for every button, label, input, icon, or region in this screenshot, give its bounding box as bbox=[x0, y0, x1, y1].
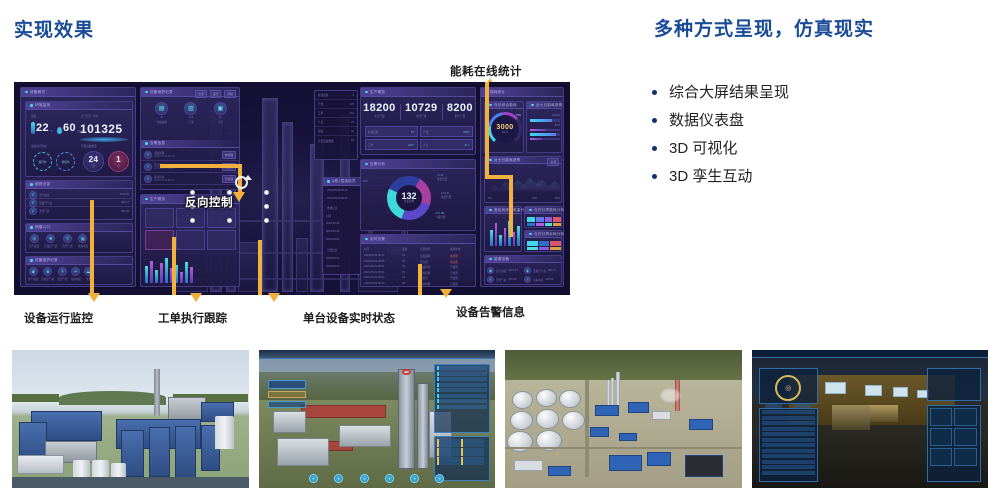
energy-device-label: 压缩空气表 bbox=[533, 269, 546, 273]
header-dot-icon bbox=[30, 259, 33, 262]
tag-label: 温度 bbox=[318, 129, 323, 133]
alarm-item-status[interactable]: 已处理 bbox=[222, 175, 236, 183]
slide-page: 实现效果 多种方式呈现，仿真现实 综合大屏结果呈现 数据仪表盘 3D 可视化 3… bbox=[0, 0, 1000, 498]
metric-value: 5台 bbox=[411, 130, 415, 134]
twin-side-panel-top[interactable] bbox=[434, 364, 491, 433]
record-label: 天然气表 bbox=[39, 209, 121, 213]
kpi-value: 18200 bbox=[363, 102, 396, 114]
wo-stat-item[interactable]: ▤ 5 在线设备 bbox=[155, 102, 168, 124]
cell-time: 2023-05-02 bbox=[326, 230, 339, 234]
metric-label: 在线设备 bbox=[368, 130, 378, 134]
bullet-dot-icon bbox=[652, 174, 657, 179]
connector-energy-v bbox=[485, 82, 489, 179]
panel-title: 设备维护记录 bbox=[150, 90, 173, 95]
panel-title: 近七日能耗趋势 bbox=[494, 158, 521, 163]
page-title-right: 多种方式呈现，仿真现实 bbox=[654, 14, 874, 41]
energy-gauge-chart: 3000 kW·h bbox=[488, 112, 522, 146]
list-item: 综合大屏结果呈现 bbox=[652, 78, 982, 106]
wo-stat-value: 5 bbox=[161, 116, 162, 119]
panel-header: 告警分析 bbox=[361, 160, 475, 169]
bullet-dot-icon bbox=[652, 146, 657, 151]
energy-device-value: 651.08 bbox=[508, 278, 516, 281]
tag-label: 人员 bbox=[318, 120, 323, 124]
tag-row[interactable]: 工单 213 bbox=[315, 109, 357, 118]
callout-label-workorder: 工单执行跟踪 bbox=[158, 310, 227, 326]
tag-row[interactable]: 在线设备 5 bbox=[315, 91, 357, 100]
panel-maintenance-records: 维修记录 ✓ 蒸汽总表 2371.23 ✓ 压缩空气表 982.17 ✓ 天 bbox=[25, 180, 133, 220]
divider bbox=[442, 104, 443, 120]
panel-energy-trend-chart: 近七日能耗趋势 全部 5% 10% 25% 60% bbox=[484, 156, 562, 203]
header-dot-icon bbox=[529, 233, 532, 236]
wo-stat-value: 213 bbox=[189, 116, 193, 119]
record-label: 蒸汽总表 bbox=[39, 193, 120, 197]
record-icon: ✓ bbox=[29, 207, 37, 215]
col-header-device: 设备 bbox=[402, 247, 420, 251]
wo-stat-item[interactable]: ▣ 21 人员 bbox=[214, 102, 227, 124]
metric-unit: 人 bbox=[467, 144, 470, 147]
panel-header: 设备概况 bbox=[21, 88, 135, 97]
twin-tag-label-2[interactable] bbox=[268, 391, 306, 398]
panel-energy-breakdown: 今日分项能耗分析 bbox=[524, 206, 562, 228]
wo-stat-item[interactable]: ▥ 213 工单 bbox=[184, 102, 197, 124]
header-dot-icon bbox=[365, 91, 368, 94]
metric-tile[interactable]: 产线 476次 bbox=[420, 126, 473, 137]
panel-header: 今日综合能耗 bbox=[485, 102, 523, 109]
xtick: 60% bbox=[555, 197, 560, 200]
list-item[interactable]: ! 振动异常 2023-05-02 08:57 已处理 bbox=[141, 173, 239, 185]
panel-header: 环境监测 bbox=[26, 102, 132, 110]
connector-alarm-v bbox=[418, 264, 422, 295]
nav-dot-icon[interactable] bbox=[410, 474, 419, 483]
trend-value: 5143.5 bbox=[552, 114, 560, 117]
hill-shape bbox=[59, 391, 165, 405]
panel-water-breakdown: 今日分项水耗分析 bbox=[524, 230, 562, 252]
thermometer-icon bbox=[31, 122, 35, 134]
steam-icon: ◉ bbox=[487, 267, 494, 274]
checklist-icon: ▣ bbox=[214, 102, 227, 115]
metric-label: 工单 bbox=[368, 143, 373, 147]
kpi-block: 10729 本月产量 bbox=[405, 102, 438, 118]
alarm-count-badge: 24 台 bbox=[83, 151, 104, 172]
gauge-value: 3000 bbox=[496, 124, 513, 131]
bullet-label: 3D 孪生互动 bbox=[669, 169, 752, 184]
energy-heat-row-2 bbox=[527, 223, 561, 226]
humidity-drop-icon bbox=[57, 127, 62, 134]
alarm-count-label: 告警设备数量 bbox=[81, 144, 97, 148]
tag-value: 24 bbox=[351, 139, 354, 142]
fault-count-unit: 台 bbox=[117, 164, 120, 168]
energy-device-item[interactable]: ◈ 压缩空气表 982.17 bbox=[524, 266, 561, 275]
filter-chip-run[interactable]: 运行 bbox=[210, 90, 222, 98]
panel-subheader: 告警信息 bbox=[141, 140, 239, 148]
list-item[interactable]: ✓ 蒸汽总表 2371.23 bbox=[26, 191, 132, 199]
pressure-value: 101325 bbox=[80, 122, 122, 136]
list-item: 3D 可视化 bbox=[652, 134, 982, 162]
tag-row[interactable]: 产线 476 bbox=[315, 100, 357, 109]
screenshot-indoor-warehouse-twin[interactable]: ◎ bbox=[752, 350, 989, 488]
status-gauge-running: 运行中 bbox=[33, 152, 52, 171]
energy-device-item[interactable]: ◑ 自来水表 413.56 bbox=[524, 275, 561, 284]
quick-entry-label: 自来水表 bbox=[78, 244, 88, 248]
device-entry-label: 自来水表 bbox=[71, 277, 81, 281]
metric-value: 21人 bbox=[465, 143, 470, 147]
quick-entry-label: 蒸汽总表 bbox=[29, 244, 39, 248]
panel-device-overview: 设备概况 环境监测 温度 大气压力（Pa） 22 ℃ 60 bbox=[20, 87, 136, 287]
tag-value: 213 bbox=[350, 112, 354, 115]
trend-bar-fill-3 bbox=[530, 133, 556, 136]
quick-entry-item[interactable]: ✹压缩空气表 bbox=[44, 234, 57, 248]
trend-bar-fill bbox=[530, 119, 552, 122]
fire-icon: ◈ bbox=[43, 267, 52, 276]
quick-entry-item[interactable]: ▽天然气表 bbox=[62, 234, 72, 248]
popup-section-2: 告警信息 bbox=[327, 248, 337, 252]
quick-entry-label: 天然气表 bbox=[62, 244, 72, 248]
device-tile[interactable] bbox=[145, 230, 174, 250]
record-value: 651.08 bbox=[121, 210, 129, 213]
legend-desc: 紧急告警 bbox=[437, 177, 447, 181]
metric-unit: 台 bbox=[412, 131, 415, 134]
humidity-value: 60 bbox=[63, 122, 76, 134]
alarm-count-unit: 台 bbox=[92, 164, 95, 168]
panel-title: 能耗统计 bbox=[490, 90, 505, 95]
panel-title: 设备维护记录 bbox=[35, 258, 58, 263]
filter-chip-stop[interactable]: 停机 bbox=[224, 90, 236, 98]
quick-entry-label: 压缩空气表 bbox=[44, 244, 57, 248]
panel-subtitle: 告警信息 bbox=[150, 141, 165, 146]
record-value: 982.17 bbox=[121, 201, 129, 204]
wrench-icon: ✂ bbox=[71, 267, 80, 276]
panel-energy-statistics: 能耗统计 今日综合能耗 3000 kW·h 75% bbox=[480, 87, 564, 287]
header-dot-icon bbox=[365, 238, 368, 241]
filter-chip-all[interactable]: 全部 bbox=[195, 90, 207, 98]
gauge-panel[interactable]: ◎ bbox=[759, 368, 818, 404]
col-header-status: 处理状态 bbox=[450, 247, 474, 251]
kpi-block: 18200 今日产量 bbox=[363, 102, 396, 118]
donut-center: 132 告警总数 bbox=[401, 192, 416, 204]
device-tile[interactable] bbox=[176, 230, 205, 250]
twin-tag-label[interactable] bbox=[268, 380, 306, 388]
header-dot-icon bbox=[529, 209, 532, 212]
trend-bar-fill-4 bbox=[530, 138, 542, 141]
bullet-label: 数据仪表盘 bbox=[669, 113, 744, 128]
kpi-label: 今日产量 bbox=[363, 114, 396, 118]
record-label: 压缩空气表 bbox=[39, 201, 121, 205]
gauge-icon: ◎ bbox=[30, 234, 39, 243]
bullet-dot-icon bbox=[652, 118, 657, 123]
connector-reverse-control-arrow-icon bbox=[233, 192, 245, 202]
panel-work-order: 设备维护记录 全部 运行 停机 ▤ 5 在线设备 ▥ 213 bbox=[140, 87, 240, 190]
kpi-value: 8200 bbox=[447, 102, 473, 114]
quick-entry-item[interactable]: ▦自来水表 bbox=[78, 234, 88, 248]
device-entry-item[interactable]: ⚡天然气表 bbox=[57, 267, 67, 281]
device-entry-item[interactable]: ◈压缩空气表 bbox=[41, 267, 54, 281]
header-dot-icon bbox=[365, 163, 368, 166]
panel-header: 今日分项能耗分析 bbox=[525, 207, 561, 214]
panel-title: 能源设备 bbox=[494, 257, 509, 262]
col-time: 时间 bbox=[326, 214, 331, 218]
tag-label: 在线设备 bbox=[318, 93, 328, 97]
tag-value: 476 bbox=[350, 103, 354, 106]
connector-energy-v2 bbox=[509, 175, 513, 237]
bullet-label: 3D 可视化 bbox=[669, 141, 737, 156]
cell-status: 已处理 bbox=[450, 282, 474, 288]
tag-label: 工单 bbox=[318, 111, 323, 115]
status-gauge-stopped: 停机中 bbox=[56, 152, 75, 171]
twin-bottom-nav[interactable] bbox=[301, 471, 452, 485]
device-tile[interactable] bbox=[145, 208, 174, 228]
selection-handle[interactable] bbox=[190, 218, 195, 223]
air-icon: ◈ bbox=[524, 267, 531, 274]
panel-header: 能源设备 bbox=[485, 256, 561, 263]
header-dot-icon bbox=[489, 209, 492, 212]
callout-energy-label: 能耗在线统计 bbox=[450, 63, 522, 79]
metric-unit: 个 bbox=[412, 144, 415, 147]
metric-label: 人员 bbox=[423, 143, 428, 147]
panel-header: 设备维护记录 bbox=[26, 257, 132, 265]
chart-legend-chip[interactable]: 全部 bbox=[547, 158, 559, 166]
legend-desc: 重要告警 bbox=[441, 195, 451, 199]
donut-center-label: 告警总数 bbox=[401, 201, 416, 204]
dashboard-screenshot: 设备概况 环境监测 温度 大气压力（Pa） 22 ℃ 60 bbox=[14, 82, 570, 295]
selection-handle[interactable] bbox=[264, 204, 269, 209]
device-tile[interactable] bbox=[207, 230, 236, 250]
bullet-label: 综合大屏结果呈现 bbox=[669, 85, 789, 100]
twin-topbar[interactable] bbox=[752, 350, 989, 358]
donut-legend-item: 10% 9 重要告警 bbox=[441, 192, 451, 199]
tree-line bbox=[12, 394, 59, 402]
callout-label-alarm-info: 设备告警信息 bbox=[456, 304, 525, 320]
screenshot-gallery: ◎ bbox=[12, 350, 988, 488]
gauge-percent: 75% bbox=[516, 114, 521, 117]
energy-device-item[interactable]: ◐ 天然气表 651.08 bbox=[487, 275, 524, 284]
status-gauge-running-label: 运行中 bbox=[39, 160, 47, 164]
bullet-dot-icon bbox=[652, 90, 657, 95]
wo-stat-label: 在线设备 bbox=[156, 120, 166, 124]
panel-interval-power: 各区间综合电量分析 bbox=[484, 206, 522, 252]
header-dot-icon bbox=[25, 91, 28, 94]
metric-unit: 次 bbox=[467, 131, 470, 134]
device-tile[interactable] bbox=[207, 208, 236, 228]
cell-time: 2023-05-02 bbox=[326, 238, 339, 242]
pallet-stack-2 bbox=[870, 405, 898, 422]
list-item[interactable]: ! 温度超限 2023-05-02 09:12 未处理 bbox=[141, 149, 239, 161]
device-entry-item[interactable]: ◉蒸汽总表 bbox=[28, 267, 38, 281]
connector-device-status-v1 bbox=[258, 240, 262, 295]
water-heat-row-2 bbox=[527, 247, 561, 250]
wo-stat-label: 工单 bbox=[188, 120, 193, 124]
panel-today-energy: 今日综合能耗 3000 kW·h 75% bbox=[484, 101, 524, 153]
panel-title: 今日综合能耗 bbox=[494, 103, 517, 108]
panel-model-tags: 在线设备 5 产线 476 工单 213 人员 21 温度 22 bbox=[314, 90, 358, 160]
header-dot-icon bbox=[145, 142, 148, 145]
chart-icon: ▦ bbox=[78, 234, 87, 243]
panel-title: 维修记录 bbox=[35, 182, 50, 187]
kpi-label: 累计产量 bbox=[447, 114, 473, 118]
panel-title: 今日分项能耗分析 bbox=[534, 208, 564, 213]
nav-dot-icon[interactable] bbox=[309, 474, 318, 483]
panel-alarm-analysis: 告警分析 132 告警总数 60% 5% 5 紧急告警 10% 9 bbox=[360, 159, 476, 231]
map-panel[interactable] bbox=[927, 368, 981, 401]
wo-stat-label: 人员 bbox=[218, 120, 223, 124]
screenshot-3d-plant-daytime[interactable] bbox=[12, 350, 249, 488]
trend-percent: 81% bbox=[555, 124, 560, 127]
device-entry-label: 压缩空气表 bbox=[41, 277, 54, 281]
metric-tile[interactable]: 工单 213个 bbox=[365, 139, 418, 150]
pressure-label: 大气压力（Pa） bbox=[81, 114, 100, 118]
twin-topbar[interactable] bbox=[259, 350, 496, 359]
col-header-type: 告警类型 bbox=[420, 247, 450, 251]
alert-icon: ! bbox=[144, 151, 152, 159]
feature-bullet-list: 综合大屏结果呈现 数据仪表盘 3D 可视化 3D 孪生互动 bbox=[652, 78, 982, 190]
device-mini-bar-chart bbox=[145, 255, 237, 283]
selection-handle[interactable] bbox=[264, 190, 269, 195]
list-item[interactable]: ✓ 压缩空气表 982.17 bbox=[26, 199, 132, 207]
list-item[interactable]: ✓ 天然气表 651.08 bbox=[26, 207, 132, 215]
gas-icon: ◐ bbox=[487, 276, 494, 283]
panel-energy-devices: 能源设备 ◉ 蒸汽总表 2371.23 ◈ 压缩空气表 982.17 bbox=[484, 255, 562, 285]
nav-dot-icon[interactable] bbox=[360, 474, 369, 483]
header-dot-icon bbox=[531, 104, 534, 107]
panel-production-overview: 生产概览 18200 今日产量 10729 本月产量 8200 累 bbox=[360, 87, 476, 155]
header-dot-icon bbox=[30, 104, 33, 107]
nav-dot-icon[interactable] bbox=[385, 474, 394, 483]
smokestack bbox=[154, 369, 160, 416]
gauge-unit: kW·h bbox=[496, 131, 513, 134]
camera-grid-panel[interactable] bbox=[927, 405, 981, 482]
bolt-icon: ⚡ bbox=[58, 267, 67, 276]
panel-header: 能耗统计 bbox=[481, 88, 563, 97]
device-entry-item[interactable]: ✂自来水表 bbox=[71, 267, 81, 281]
xtick: 25% bbox=[532, 197, 537, 200]
fault-count-badge: 1 台 bbox=[108, 151, 129, 172]
metric-tile[interactable]: 人员 21人 bbox=[420, 139, 473, 150]
cell-type: 通讯中断 bbox=[420, 282, 450, 288]
donut-legend-item: 25% 36 一般告警 bbox=[435, 212, 445, 219]
popup-meta-2: 2023-05-02 09:05 bbox=[327, 197, 347, 200]
connector-reverse-control-h bbox=[160, 164, 242, 168]
screenshot-aerial-refinery[interactable] bbox=[505, 350, 742, 488]
alert-icon: ! bbox=[144, 175, 152, 183]
alarm-item-time: 2023-05-02 09:12 bbox=[154, 155, 222, 158]
wo-stat-value: 21 bbox=[219, 116, 222, 119]
alarm-item-time: 2023-05-02 08:57 bbox=[154, 179, 222, 182]
energy-device-value: 413.56 bbox=[545, 278, 553, 281]
header-dot-icon bbox=[30, 226, 33, 229]
energy-device-label: 天然气表 bbox=[496, 278, 506, 282]
callout-arrow-down-icon-3 bbox=[268, 293, 280, 302]
selection-handle[interactable] bbox=[264, 218, 269, 223]
list-item: 数据仪表盘 bbox=[652, 106, 982, 134]
chart-xaxis: 5% 10% 25% 60% bbox=[488, 197, 560, 200]
water-drop-icon: ◉ bbox=[29, 267, 38, 276]
alert-icon: ! bbox=[144, 163, 152, 171]
device-entry-label: 蒸汽总表 bbox=[28, 277, 38, 281]
panel-energy-trend-summary: 近七日能耗趋势 5143.5 81% bbox=[526, 101, 562, 153]
record-icon: ✓ bbox=[29, 191, 37, 199]
device-status-label: 设备运行状态 bbox=[31, 144, 47, 148]
panel-title: 设备概况 bbox=[30, 90, 45, 95]
radial-gauge-icon: ◎ bbox=[775, 375, 801, 401]
refresh-icon[interactable] bbox=[235, 176, 248, 189]
tag-row[interactable]: 温度 22 bbox=[315, 127, 357, 136]
panel-title: 生产概览 bbox=[370, 90, 385, 95]
interval-bar-chart bbox=[490, 220, 520, 246]
popup-meta-1: 2023-05-02 09:12 bbox=[327, 189, 347, 192]
quick-entry-item[interactable]: ◎蒸汽总表 bbox=[29, 234, 39, 248]
gear-icon: ✹ bbox=[46, 234, 55, 243]
panel-environment: 环境监测 温度 大气压力（Pa） 22 ℃ 60 %RH 101325 设备运 bbox=[25, 101, 133, 177]
selection-handle[interactable] bbox=[227, 218, 232, 223]
tag-label: 产线 bbox=[318, 102, 323, 106]
kpi-label: 本月产量 bbox=[405, 114, 438, 118]
energy-device-value: 982.17 bbox=[548, 269, 556, 272]
clipboard-icon: ▥ bbox=[184, 102, 197, 115]
col-header-time: 时间 bbox=[364, 247, 402, 251]
cell-time: 2023-05-02 bbox=[326, 222, 339, 226]
cell-time: 2023-05-02 bbox=[326, 265, 339, 269]
tag-row[interactable]: 人员 21 bbox=[315, 118, 357, 127]
panel-device-entry: 设备维护记录 ◉蒸汽总表 ◈压缩空气表 ⚡天然气表 ✂自来水表 ▬全部 bbox=[25, 256, 133, 285]
pallet-stack bbox=[832, 405, 870, 430]
callout-reverse-control-label: 反向控制 bbox=[185, 194, 233, 210]
record-value: 2371.23 bbox=[120, 193, 129, 196]
nav-dot-icon[interactable] bbox=[435, 474, 444, 483]
callout-arrow-down-icon-2 bbox=[190, 293, 202, 302]
alarm-count-value: 24 bbox=[89, 155, 99, 164]
legend-desc: 一般告警 bbox=[435, 215, 445, 219]
dashboard-canvas: 设备概况 环境监测 温度 大气压力（Pa） 22 ℃ 60 bbox=[14, 82, 570, 295]
panel-title: 快捷入口 bbox=[35, 225, 50, 230]
panel-header: 今日分项水耗分析 bbox=[525, 231, 561, 238]
list-item: 3D 孪生互动 bbox=[652, 162, 982, 190]
header-dot-icon bbox=[489, 104, 492, 107]
temperature-unit: ℃ bbox=[50, 130, 53, 133]
energy-device-item[interactable]: ◉ 蒸汽总表 2371.23 bbox=[487, 266, 524, 275]
kpi-value: 10729 bbox=[405, 102, 438, 114]
tag-row[interactable]: 告警设备数量 24 bbox=[315, 136, 357, 145]
twin-tag-label-3[interactable] bbox=[268, 401, 306, 408]
connector-workorder-v bbox=[172, 237, 176, 295]
header-dot-icon bbox=[30, 183, 33, 186]
metric-label: 产线 bbox=[423, 130, 428, 134]
water-heat-row bbox=[527, 241, 561, 246]
screenshot-cement-plant-twin[interactable] bbox=[259, 350, 496, 488]
cell-time: 2023-05-02 bbox=[326, 257, 339, 261]
tag-label: 告警设备数量 bbox=[318, 139, 334, 143]
energy-device-label: 自来水表 bbox=[533, 278, 543, 282]
energy-device-label: 蒸汽总表 bbox=[496, 269, 506, 273]
alarm-donut-chart: 132 告警总数 bbox=[387, 176, 431, 220]
document-icon: ▤ bbox=[155, 102, 168, 115]
funnel-icon: ▽ bbox=[63, 234, 72, 243]
alarm-marker-icon[interactable] bbox=[402, 369, 411, 375]
alarm-item-status[interactable]: 未处理 bbox=[222, 151, 236, 159]
panel-title: 实时告警 bbox=[370, 237, 385, 242]
data-list-panel[interactable] bbox=[759, 408, 818, 483]
callout-arrow-down-icon-1 bbox=[88, 293, 100, 302]
status-gauge-stopped-label: 停机中 bbox=[62, 160, 70, 164]
popup-section-1: 维修记录 bbox=[327, 206, 337, 210]
metric-tile[interactable]: 在线设备 5台 bbox=[365, 126, 418, 137]
temperature-value: 22 bbox=[36, 122, 49, 134]
table-header-row: 时间 设备 告警类型 处理状态 bbox=[364, 247, 474, 251]
device-entry-label: 天然气表 bbox=[57, 277, 67, 281]
header-dot-icon bbox=[489, 258, 492, 261]
energy-device-value: 2371.23 bbox=[508, 269, 517, 272]
panel-title: 告警分析 bbox=[370, 162, 385, 167]
panel-quick-entry: 快捷入口 ◎蒸汽总表 ✹压缩空气表 ▽天然气表 ▦自来水表 bbox=[25, 223, 133, 253]
nav-dot-icon[interactable] bbox=[334, 474, 343, 483]
